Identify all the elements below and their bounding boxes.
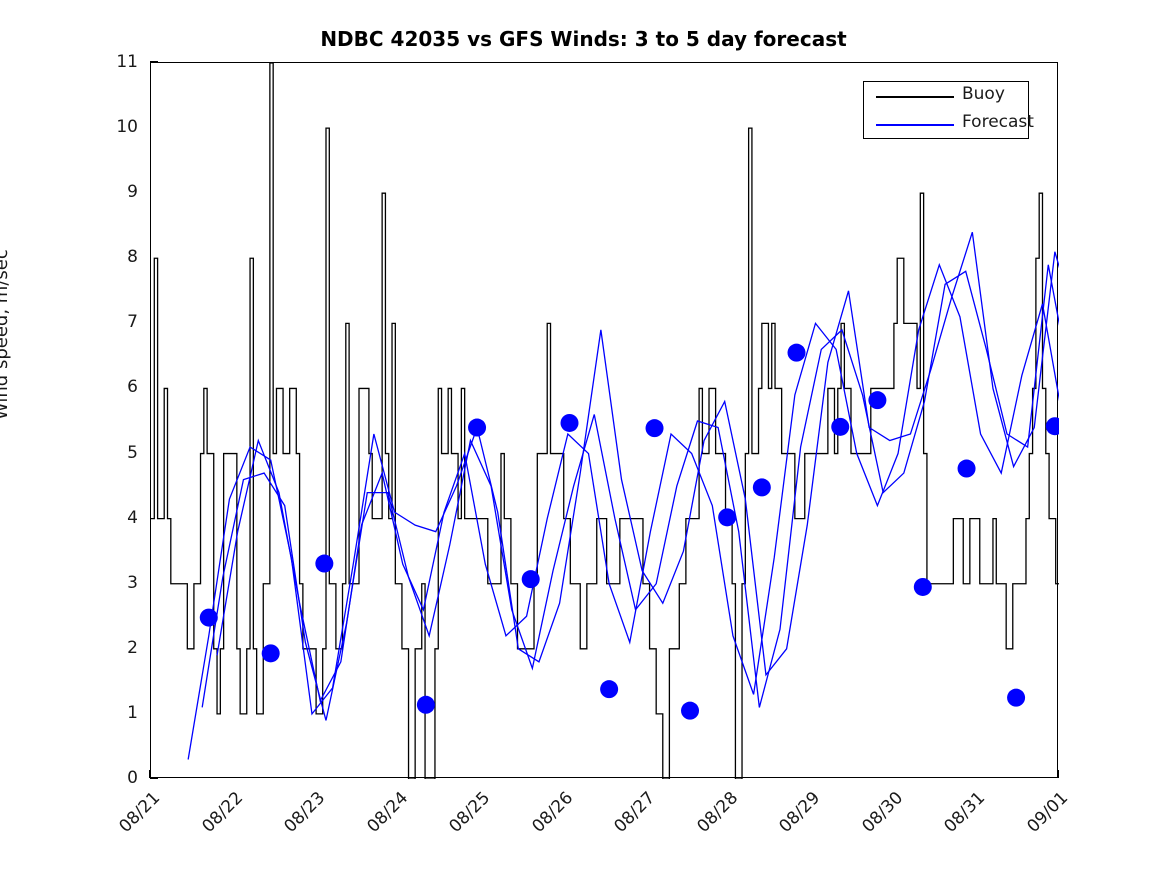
daily-mean-marker	[914, 578, 932, 596]
daily-mean-marker	[718, 508, 736, 526]
chart-title: NDBC 42035 vs GFS Winds: 3 to 5 day fore…	[0, 27, 1167, 51]
daily-mean-marker	[561, 414, 579, 432]
x-axis-tick-label: 08/26	[525, 788, 577, 840]
legend-item-forecast[interactable]: Forecast	[864, 110, 1030, 139]
legend-label-forecast: Forecast	[962, 112, 1034, 132]
daily-mean-marker	[788, 344, 806, 362]
y-axis-tick-label: 1	[0, 703, 138, 723]
x-axis-tick-label: 08/31	[937, 788, 989, 840]
y-axis-tick-label: 4	[0, 508, 138, 528]
x-axis-tick-label: 08/30	[855, 788, 907, 840]
daily-mean-marker	[200, 609, 218, 627]
daily-mean-marker	[262, 644, 280, 662]
plot-area: Buoy Forecast	[150, 62, 1058, 778]
legend-label-buoy: Buoy	[962, 84, 1005, 104]
y-axis-tick-label: 11	[0, 52, 138, 72]
daily-mean-markers-layer	[151, 63, 1059, 779]
y-axis-tick-label: 2	[0, 638, 138, 658]
daily-mean-marker	[958, 460, 976, 478]
x-axis-tick-label: 08/24	[359, 788, 411, 840]
daily-mean-marker	[315, 555, 333, 573]
x-axis-tick-label: 08/29	[772, 788, 824, 840]
daily-mean-marker	[417, 696, 435, 714]
y-axis-tick-label: 7	[0, 312, 138, 332]
x-axis-tick-label: 08/25	[442, 788, 494, 840]
daily-mean-marker	[646, 419, 664, 437]
daily-mean-marker	[831, 418, 849, 436]
x-axis-tick-label: 08/22	[194, 788, 246, 840]
legend-item-buoy[interactable]: Buoy	[864, 82, 1030, 111]
daily-mean-marker	[468, 419, 486, 437]
x-axis-tick-label: 08/23	[277, 788, 329, 840]
legend-swatch-buoy	[876, 96, 954, 98]
daily-mean-marker	[600, 680, 618, 698]
y-axis-tick-label: 6	[0, 377, 138, 397]
y-axis-tick-label: 10	[0, 117, 138, 137]
plot-canvas	[151, 63, 1059, 779]
y-axis-tick-label: 3	[0, 573, 138, 593]
x-axis-tick-label: 08/27	[607, 788, 659, 840]
daily-mean-marker	[522, 570, 540, 588]
daily-mean-marker	[753, 478, 771, 496]
y-axis-tick-label: 8	[0, 247, 138, 267]
legend[interactable]: Buoy Forecast	[863, 81, 1029, 139]
x-axis-tick-label: 08/21	[112, 788, 164, 840]
daily-mean-marker	[1046, 417, 1059, 435]
chart-root: NDBC 42035 vs GFS Winds: 3 to 5 day fore…	[0, 0, 1167, 875]
x-axis-tick-label: 08/28	[690, 788, 742, 840]
y-axis-tick-label: 0	[0, 768, 138, 788]
y-axis-tick-label: 5	[0, 443, 138, 463]
daily-mean-marker	[1007, 689, 1025, 707]
y-axis-tick-label: 9	[0, 182, 138, 202]
daily-mean-marker	[868, 391, 886, 409]
legend-swatch-forecast	[876, 124, 954, 126]
daily-mean-marker	[681, 702, 699, 720]
x-axis-tick-label: 09/01	[1020, 788, 1072, 840]
